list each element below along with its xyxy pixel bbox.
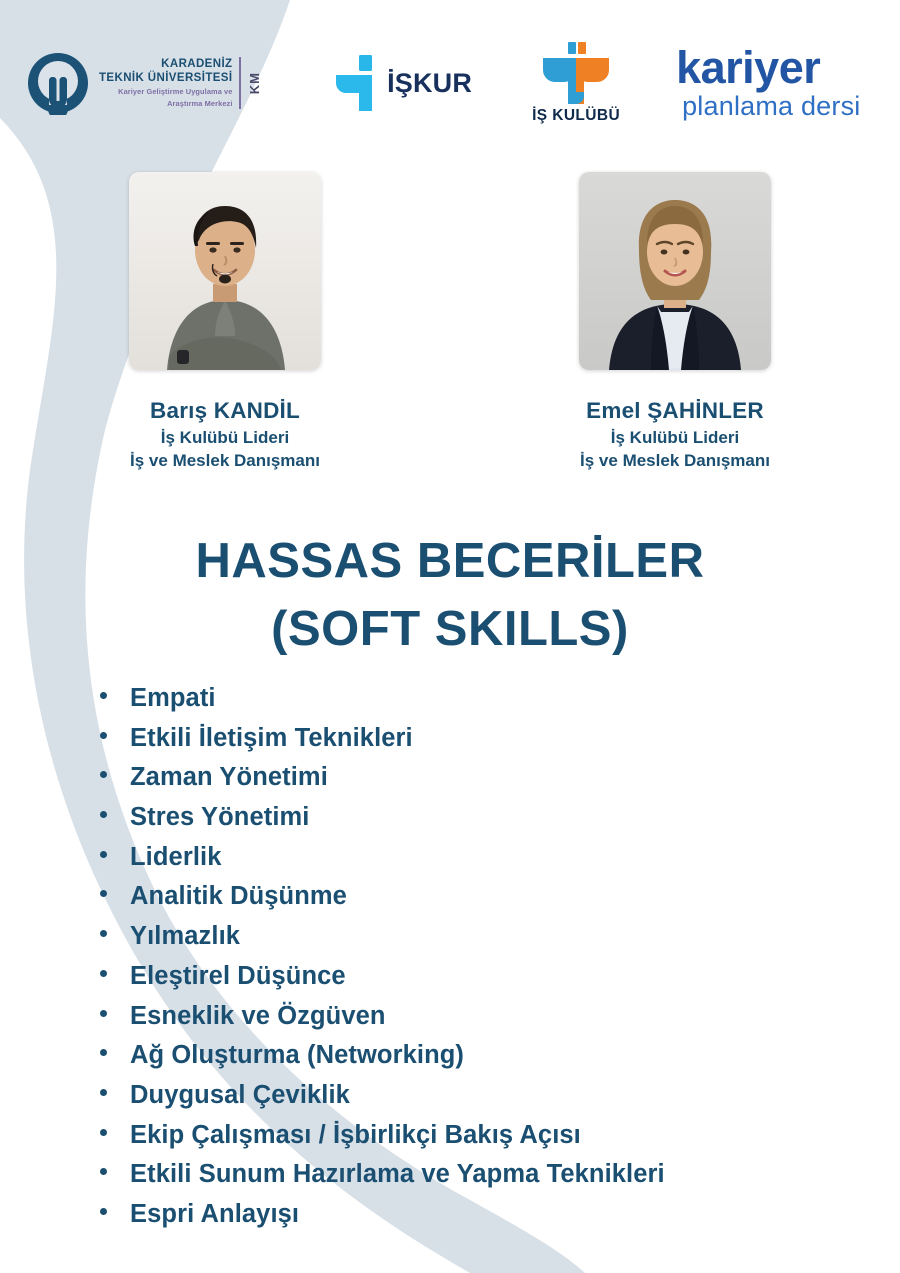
- bullet-icon: [100, 771, 107, 778]
- ktu-divider: [239, 57, 241, 109]
- list-item: Ekip Çalışması / İşbirlikçi Bakış Açısı: [100, 1123, 860, 1149]
- iskur-logo-icon: [334, 55, 380, 111]
- ktu-km-badge: KM: [247, 72, 262, 94]
- speaker-name: Barış KANDİL: [150, 398, 300, 424]
- list-item-label: Liderlik: [130, 845, 222, 871]
- list-item: Eleştirel Düşünce: [100, 964, 860, 990]
- ktu-sub-1: Kariyer Geliştirme Uygulama ve: [99, 87, 232, 97]
- list-item-label: Analitik Düşünme: [130, 884, 347, 910]
- kariyer-wordmark: kariyer: [676, 45, 820, 90]
- speaker-card: Emel ŞAHİNLER İş Kulübü Lideri İş ve Mes…: [450, 172, 900, 471]
- list-item: Espri Anlayışı: [100, 1202, 860, 1228]
- partner-logo-bar: KARADENİZ TEKNİK ÜNİVERSİTESİ Kariyer Ge…: [0, 28, 900, 138]
- list-item-label: Esneklik ve Özgüven: [130, 1004, 386, 1030]
- bullet-icon: [100, 811, 107, 818]
- speaker-role-primary: İş Kulübü Lideri: [611, 428, 739, 448]
- logo-kariyer: kariyer planlama dersi: [676, 45, 860, 122]
- bullet-icon: [100, 851, 107, 858]
- page-title-line-1: HASSAS BECERİLER: [0, 528, 900, 596]
- list-item-label: Espri Anlayışı: [130, 1202, 299, 1228]
- speaker-role-primary: İş Kulübü Lideri: [161, 428, 289, 448]
- list-item-label: Eleştirel Düşünce: [130, 964, 346, 990]
- bullet-icon: [100, 1208, 107, 1215]
- baris-kandil-photo: [129, 172, 321, 370]
- bullet-icon: [100, 890, 107, 897]
- ktu-sub-2: Araştırma Merkezi: [99, 99, 232, 109]
- list-item-label: Zaman Yönetimi: [130, 765, 328, 791]
- list-item: Zaman Yönetimi: [100, 765, 860, 791]
- list-item-label: Ağ Oluşturma (Networking): [130, 1043, 464, 1069]
- speaker-role-secondary: İş ve Meslek Danışmanı: [130, 451, 320, 471]
- list-item-label: Duygusal Çeviklik: [130, 1083, 350, 1109]
- bullet-icon: [100, 692, 107, 699]
- kariyer-tagline: planlama dersi: [682, 92, 860, 122]
- bullet-icon: [100, 1089, 107, 1096]
- ktu-line-1: KARADENİZ: [99, 57, 232, 71]
- bullet-icon: [100, 1010, 107, 1017]
- logo-is-kulubu: İŞ KULÜBÜ: [532, 42, 620, 125]
- list-item: Etkili İletişim Teknikleri: [100, 726, 860, 752]
- is-kulubu-wordmark: İŞ KULÜBÜ: [532, 107, 620, 125]
- bullet-icon: [100, 930, 107, 937]
- list-item-label: Etkili İletişim Teknikleri: [130, 726, 413, 752]
- ktu-line-2: TEKNİK ÜNİVERSİTESİ: [99, 71, 232, 85]
- list-item: Liderlik: [100, 845, 860, 871]
- is-kulubu-logo-icon: [537, 42, 615, 104]
- emel-sahinler-photo: [579, 172, 771, 370]
- list-item: Etkili Sunum Hazırlama ve Yapma Teknikle…: [100, 1162, 860, 1188]
- bullet-icon: [100, 732, 107, 739]
- list-item: Empati: [100, 686, 860, 712]
- speakers-section: Barış KANDİL İş Kulübü Lideri İş ve Mesl…: [0, 172, 900, 471]
- list-item: Stres Yönetimi: [100, 805, 860, 831]
- logo-ktu: KARADENİZ TEKNİK ÜNİVERSİTESİ Kariyer Ge…: [26, 51, 262, 115]
- speaker-card: Barış KANDİL İş Kulübü Lideri İş ve Mesl…: [0, 172, 450, 471]
- logo-iskur: İŞKUR: [334, 55, 472, 111]
- bullet-icon: [100, 970, 107, 977]
- list-item: Analitik Düşünme: [100, 884, 860, 910]
- list-item-label: Etkili Sunum Hazırlama ve Yapma Teknikle…: [130, 1162, 665, 1188]
- speaker-name: Emel ŞAHİNLER: [586, 398, 764, 424]
- bullet-icon: [100, 1129, 107, 1136]
- list-item-label: Ekip Çalışması / İşbirlikçi Bakış Açısı: [130, 1123, 581, 1149]
- list-item-label: Stres Yönetimi: [130, 805, 310, 831]
- page-title-line-2: (SOFT SKILLS): [0, 596, 900, 664]
- list-item: Yılmazlık: [100, 924, 860, 950]
- list-item: Ağ Oluşturma (Networking): [100, 1043, 860, 1069]
- list-item: Esneklik ve Özgüven: [100, 1004, 860, 1030]
- list-item-label: Empati: [130, 686, 216, 712]
- iskur-wordmark: İŞKUR: [387, 68, 472, 99]
- bullet-icon: [100, 1049, 107, 1056]
- speaker-role-secondary: İş ve Meslek Danışmanı: [580, 451, 770, 471]
- skills-list: Empati Etkili İletişim Teknikleri Zaman …: [100, 686, 860, 1242]
- list-item: Duygusal Çeviklik: [100, 1083, 860, 1109]
- list-item-label: Yılmazlık: [130, 924, 240, 950]
- bullet-icon: [100, 1168, 107, 1175]
- page-title: HASSAS BECERİLER (SOFT SKILLS): [0, 528, 900, 663]
- ktu-logo-icon: [26, 51, 90, 115]
